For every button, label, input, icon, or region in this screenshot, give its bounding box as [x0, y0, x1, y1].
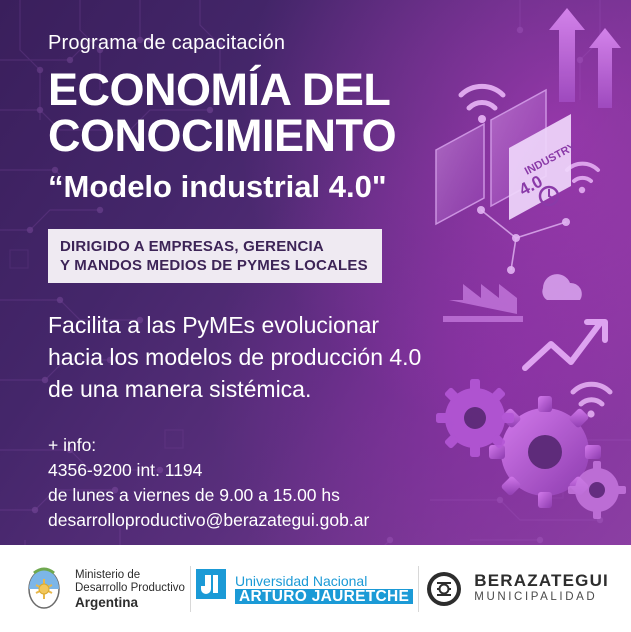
ministerio-line2: Desarrollo Productivo	[75, 582, 185, 595]
ministerio-line3: Argentina	[75, 596, 185, 609]
berazategui-shield-icon	[424, 569, 464, 609]
footer-logo-bar: Ministerio de Desarrollo Productivo Arge…	[0, 545, 631, 632]
poster-description: Facilita a las PyMEs evolucionar hacia l…	[48, 309, 478, 405]
logo-unaj: Universidad Nacional ARTURO JAURETCHE	[196, 569, 413, 609]
berazategui-text: BERAZATEGUI MUNICIPALIDAD	[474, 572, 609, 606]
poster-text-block: Programa de capacitación ECONOMÍA DEL CO…	[48, 32, 478, 533]
footer-divider-1	[190, 566, 191, 612]
contact-phone: 4356-9200 int. 1194	[48, 458, 478, 483]
poster-title-line2: CONOCIMIENTO	[48, 113, 478, 159]
contact-info-label: + info:	[48, 433, 478, 458]
description-line3: de una manera sistémica.	[48, 373, 478, 405]
program-kicker: Programa de capacitación	[48, 32, 478, 55]
escudo-argentina-icon	[22, 563, 66, 615]
description-line2: hacia los modelos de producción 4.0	[48, 341, 478, 373]
unaj-mark-icon	[196, 569, 226, 609]
poster-subtitle: “Modelo industrial 4.0"	[48, 169, 478, 205]
unaj-line2: ARTURO JAURETCHE	[235, 589, 413, 604]
logo-berazategui: BERAZATEGUI MUNICIPALIDAD	[424, 569, 609, 609]
logo-ministerio-desarrollo-productivo: Ministerio de Desarrollo Productivo Arge…	[22, 563, 185, 615]
poster-canvas: INDUSTRY 4.0	[0, 0, 631, 632]
contact-email[interactable]: desarrolloproductivo@berazategui.gob.ar	[48, 508, 478, 533]
unaj-text: Universidad Nacional ARTURO JAURETCHE	[235, 574, 413, 604]
audience-line1: DIRIGIDO A EMPRESAS, GERENCIA	[60, 237, 368, 256]
ministerio-text: Ministerio de Desarrollo Productivo Arge…	[75, 569, 185, 609]
unaj-line1: Universidad Nacional	[235, 574, 413, 589]
berazategui-line2: MUNICIPALIDAD	[474, 589, 609, 606]
audience-chip: DIRIGIDO A EMPRESAS, GERENCIA Y MANDOS M…	[48, 229, 382, 283]
footer-divider-2	[418, 566, 419, 612]
ministerio-line1: Ministerio de	[75, 569, 185, 582]
berazategui-line1: BERAZATEGUI	[474, 572, 609, 589]
audience-line2: Y MANDOS MEDIOS DE PYMES LOCALES	[60, 256, 368, 275]
contact-block: + info: 4356-9200 int. 1194 de lunes a v…	[48, 433, 478, 533]
poster-title: ECONOMÍA DEL CONOCIMIENTO	[48, 67, 478, 159]
poster-title-line1: ECONOMÍA DEL	[48, 67, 478, 113]
description-line1: Facilita a las PyMEs evolucionar	[48, 309, 478, 341]
contact-hours: de lunes a viernes de 9.00 a 15.00 hs	[48, 483, 478, 508]
